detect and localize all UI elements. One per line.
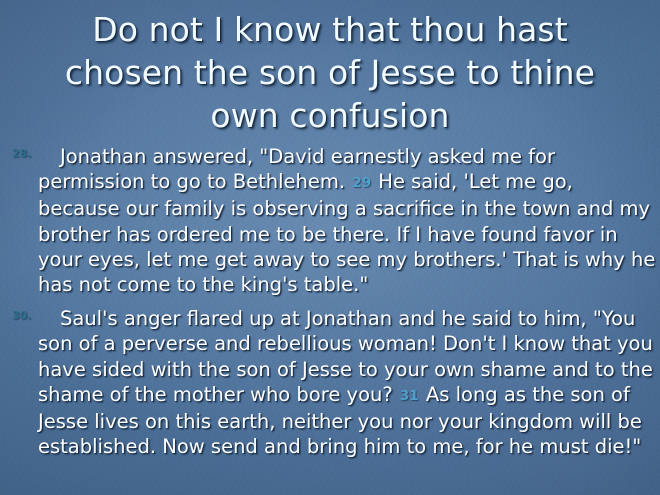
slide-body: 28.Jonathan answered, "David earnestly a… xyxy=(8,144,656,459)
verse-number-marker: 30. xyxy=(12,310,32,321)
verse-paragraph: 28.Jonathan answered, "David earnestly a… xyxy=(8,144,656,297)
verse-number-inline: 29 xyxy=(351,175,372,191)
slide-title: Do not I know that thou hast chosen the … xyxy=(22,8,638,137)
verse-number-inline: 31 xyxy=(399,388,420,404)
verse-number-marker: 28. xyxy=(12,148,32,159)
presentation-slide: Do not I know that thou hast chosen the … xyxy=(0,0,660,495)
verse-paragraph: 30.Saul's anger flared up at Jonathan an… xyxy=(8,306,656,459)
